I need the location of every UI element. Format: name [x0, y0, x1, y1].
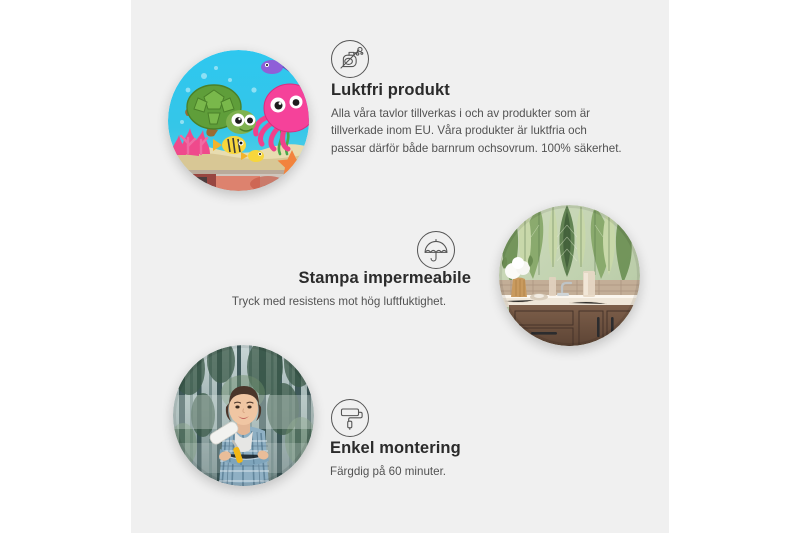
feature-title: Luktfri produkt [331, 80, 623, 101]
feature-title: Enkel montering [330, 438, 570, 459]
feature-body: Alla våra tavlor tillverkas i och av pro… [331, 105, 623, 158]
feature-text-easy-install: Enkel montering Färgdig på 60 minuter. [330, 438, 570, 480]
feature-body: Tryck med resistens mot hög luftfuktighe… [205, 293, 473, 311]
underwater-cartoon-circle-image [168, 50, 309, 191]
feature-title: Stampa impermeabile [205, 268, 473, 289]
promo-feature-panel: Luktfri produkt Alla våra tavlor tillver… [0, 0, 800, 533]
bathroom-tropical-wallpaper-circle-image [499, 205, 640, 346]
feature-text-waterproof: Stampa impermeabile Tryck med resistens … [205, 268, 473, 310]
woman-with-paint-roller-circle-image [173, 345, 314, 486]
feature-body: Färgdig på 60 minuter. [330, 463, 570, 481]
feature-text-odourless: Luktfri produkt Alla våra tavlor tillver… [331, 80, 623, 157]
umbrella-icon [417, 231, 455, 269]
paint-roller-icon [331, 399, 369, 437]
no-odour-spray-bottle-icon [331, 40, 369, 78]
